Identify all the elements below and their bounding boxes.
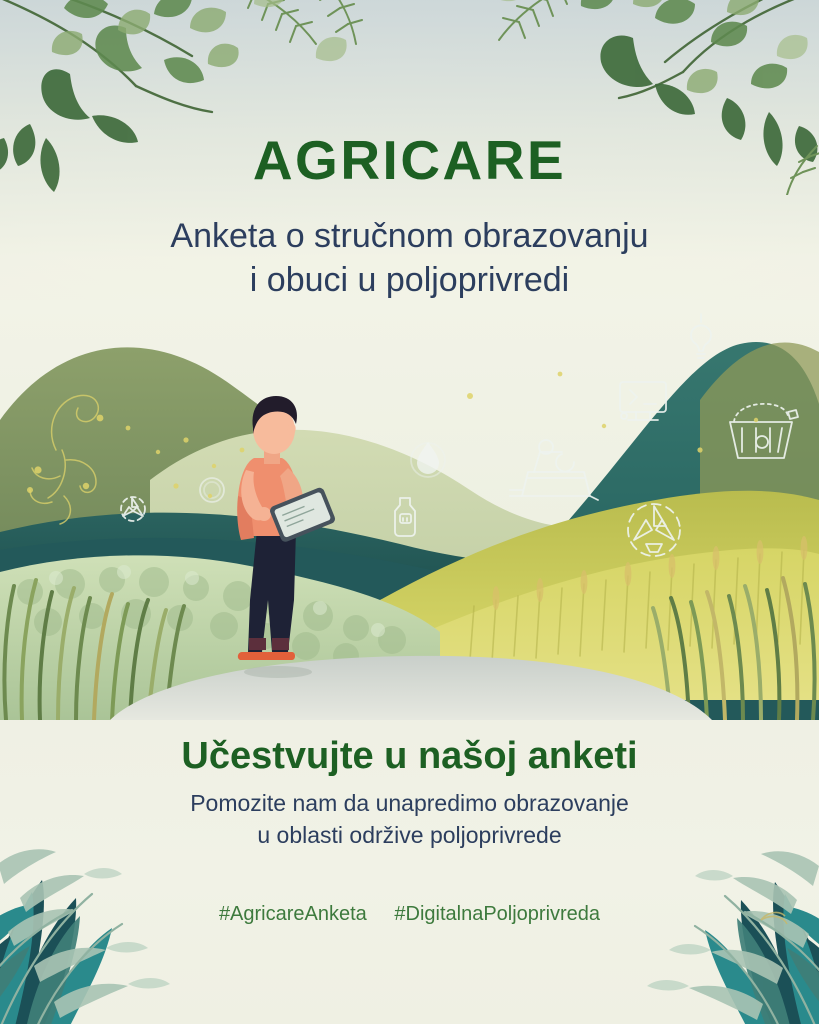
- hand-near: [257, 507, 271, 521]
- hashtag-row: #AgricareAnketa #DigitalnaPoljoprivreda: [0, 903, 819, 926]
- cta-heading: Učestvujte u našoj anketi: [0, 735, 819, 779]
- page-subtitle: Anketa o stručnom obrazovanju i obuci u …: [0, 215, 819, 302]
- cta-line-2: u oblasti održive poljoprivrede: [0, 820, 819, 852]
- landscape-illustration: [0, 300, 819, 720]
- page-title: AGRICARE: [0, 132, 819, 190]
- hashtag-1: #AgricareAnketa: [219, 903, 367, 925]
- trouser-cuff-right: [272, 638, 289, 650]
- cta-subtext: Pomozite nam da unapredimo obrazovanje u…: [0, 788, 819, 851]
- sandal-left: [238, 652, 269, 660]
- poster: AGRICARE Anketa o stručnom obrazovanju i…: [0, 0, 819, 1024]
- trouser-cuff-left: [249, 638, 266, 650]
- figure-trousers: [248, 530, 296, 652]
- cta-line-1: Pomozite nam da unapredimo obrazovanje: [0, 788, 819, 820]
- subtitle-line-1: Anketa o stručnom obrazovanju: [0, 215, 819, 259]
- hashtag-2: #DigitalnaPoljoprivreda: [394, 903, 600, 925]
- figure-shadow: [244, 666, 312, 678]
- subtitle-line-2: i obuci u poljoprivredi: [0, 259, 819, 303]
- sandal-right: [264, 652, 295, 660]
